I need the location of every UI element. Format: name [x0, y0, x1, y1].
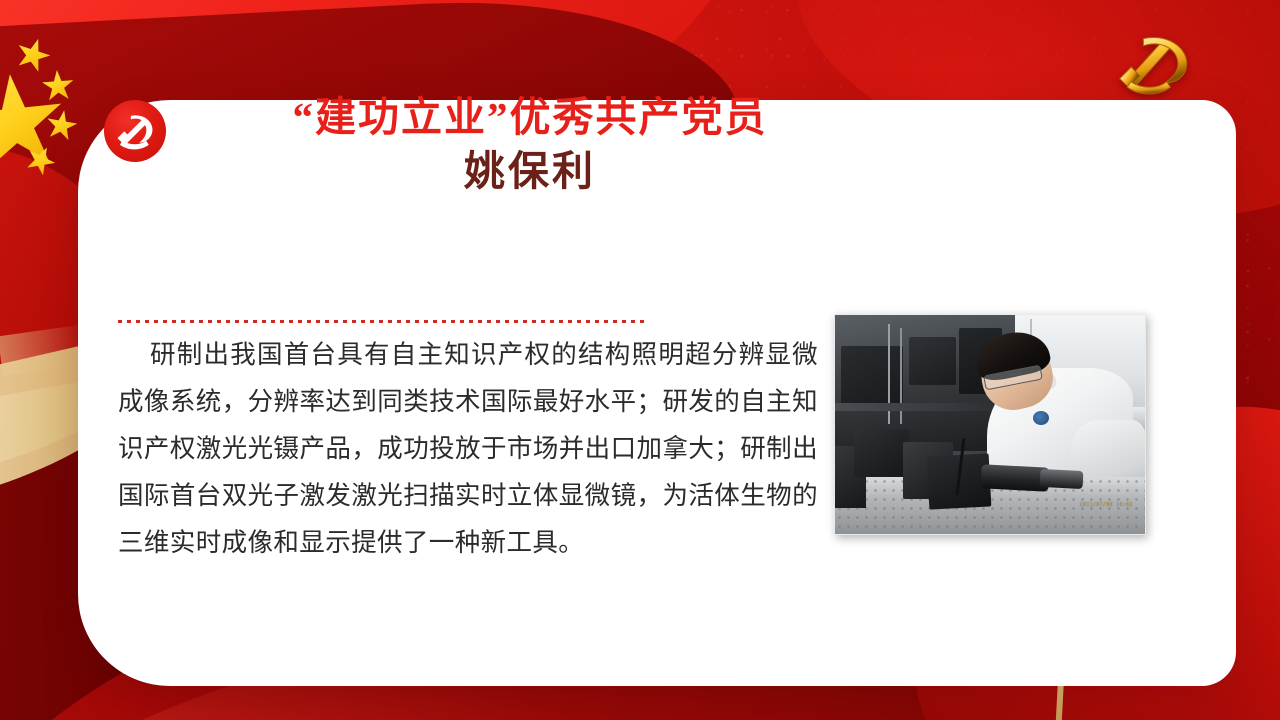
- photo-lens-barrel-2: [1039, 469, 1083, 489]
- star-small-1-icon: [12, 34, 55, 77]
- title-block: “建功立业”优秀共产党员 姚保利: [150, 92, 910, 196]
- photo-monitor-2: [909, 337, 956, 385]
- person-photo: 2011/07/08 14:02: [834, 314, 1146, 535]
- body-paragraph: 研制出我国首台具有自主知识产权的结构照明超分辨显微成像系统，分辨率达到同类技术国…: [118, 332, 818, 567]
- photo-timestamp: 2011/07/08 14:02: [1080, 502, 1133, 508]
- photo-inner: 2011/07/08 14:02: [835, 315, 1145, 534]
- photo-monitor-1: [841, 346, 903, 407]
- header: “建功立业”优秀共产党员 姚保利: [20, 92, 1120, 222]
- photo-optics-1: [854, 429, 910, 477]
- party-emblem-gold-icon: [1110, 26, 1202, 98]
- photo-shelf: [835, 403, 1015, 412]
- slide-root: “建功立业”优秀共产党员 姚保利 研制出我国首台具有自主知识产权的结构照明超分辨…: [0, 0, 1280, 720]
- page-title: “建功立业”优秀共产党员: [150, 92, 910, 142]
- person-name: 姚保利: [150, 146, 910, 196]
- dotted-divider: [118, 320, 646, 323]
